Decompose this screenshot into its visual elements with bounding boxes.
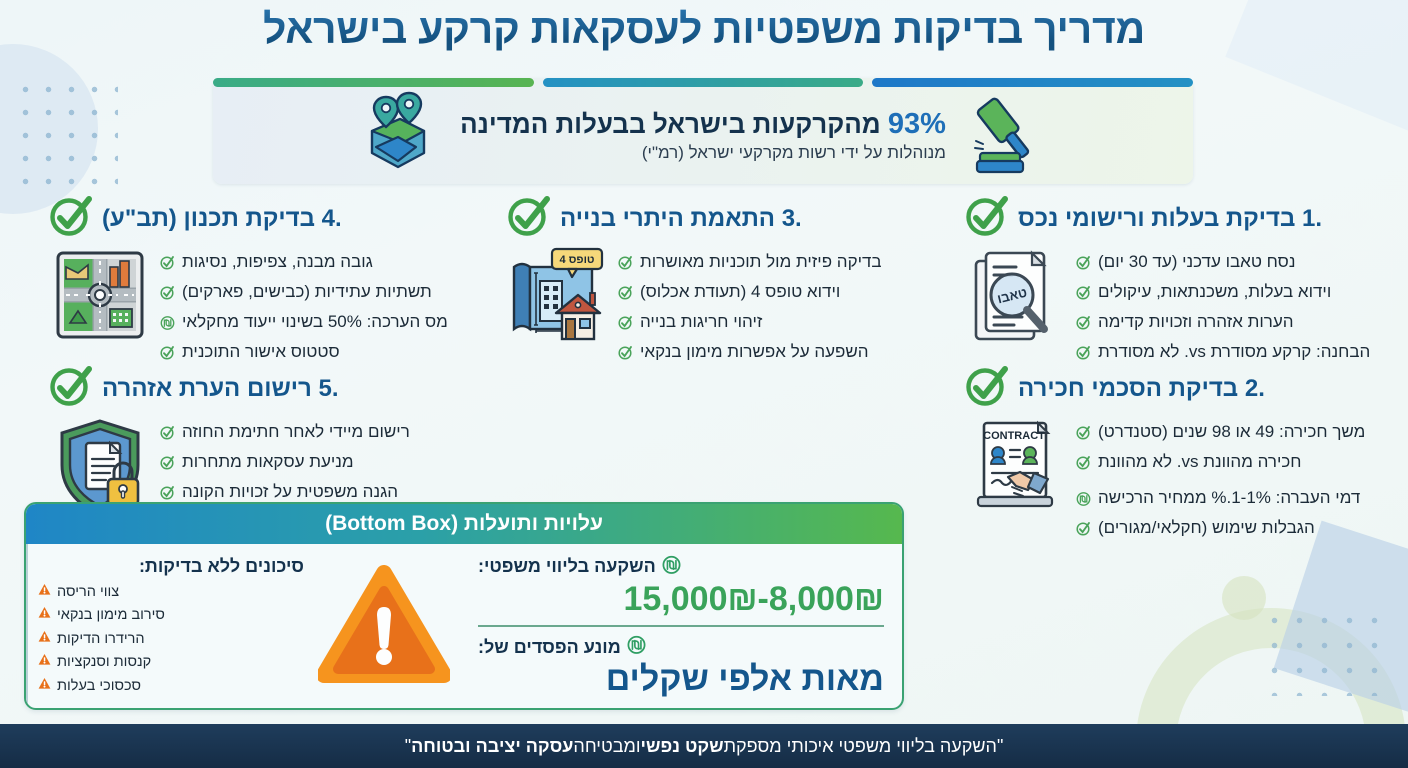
list-item-label: סטטוס אישור התוכנית <box>182 339 340 366</box>
list-item-label: וידוא בעלות, משכנתאות, עיקולים <box>1098 279 1331 306</box>
footer-bold-1: שקט נפשי <box>641 736 724 757</box>
bottom-box-title: עלויות ותועלות (Bottom Box) <box>26 504 902 544</box>
risk-item: קנסות וסנקציות <box>38 651 304 674</box>
list-item: מס הערכה: 50% בשינוי ייעוד מחקלאי <box>160 309 478 339</box>
cost-label-legal-text: השקעה בליווי משפטי: <box>478 556 656 577</box>
check-circle-icon <box>964 364 1010 413</box>
list-item-label: בדיקה פיזית מול תוכניות מאושרות <box>640 249 882 276</box>
check-circle-icon <box>1076 422 1091 449</box>
page-title: מדריך בדיקות משפטיות לעסקאות קרקע בישראל <box>0 2 1408 57</box>
stat-headline-rest: מהקרקעות בישראל בבעלות המדינה <box>460 109 881 139</box>
list-item: תשתיות עתידיות (כבישים, פארקים) <box>160 279 478 309</box>
check-circle-icon <box>964 194 1010 243</box>
check-circle-icon <box>160 422 175 449</box>
list-item: וידוא טופס 4 (תעודת אכלוס) <box>618 279 936 309</box>
decor-dot-grid-left <box>14 78 118 188</box>
check-circle-icon <box>48 364 94 413</box>
decor-square-bottom-right <box>1274 521 1408 715</box>
section-caveat: .5 רישום הערת אזהרה <box>48 364 478 521</box>
list-item-label: חכירה מהוונת vs. לא מהוונת <box>1098 449 1301 476</box>
cost-divider <box>478 625 884 627</box>
list-item: חכירה מהוונת vs. לא מהוונת <box>1076 449 1394 479</box>
section-permits: .3 התאמת היתרי בנייה <box>506 194 936 368</box>
risks-pane: סיכונים ללא בדיקות: צווי הריסה סירוב מימ… <box>26 544 464 710</box>
risk-item-label: קנסות וסנקציות <box>57 651 151 674</box>
stat-percent: 93% <box>888 108 946 140</box>
gavel-icon <box>962 91 1054 180</box>
check-circle-icon <box>160 452 175 479</box>
warning-triangle-small-icon <box>38 604 51 627</box>
stat-bar-teal <box>543 78 864 87</box>
check-circle-icon <box>160 252 175 279</box>
section-planning: .4 בדיקת תכנון (תב"ע) <box>48 194 478 368</box>
check-circle-icon <box>618 312 633 339</box>
check-circle-icon <box>1076 312 1091 339</box>
stat-bar-blue <box>872 78 1193 87</box>
map-location-pins-icon <box>352 91 444 180</box>
cost-label-savings: מונע הפסדים של: <box>478 635 884 659</box>
stat-banner: 93% מהקרקעות בישראל בבעלות המדינה מנוהלו… <box>213 78 1193 184</box>
list-item-label: וידוא טופס 4 (תעודת אכלוס) <box>640 279 840 306</box>
cost-value-savings: מאות אלפי שקלים <box>478 659 884 699</box>
stat-banner-color-bars <box>213 78 1193 87</box>
footer-quote-open: "השקעה בליווי משפטי איכותי מספקת <box>724 736 1004 757</box>
section-item-list: גובה מבנה, צפיפות, נסיגות תשתיות עתידיות… <box>160 247 478 368</box>
section-title: .4 בדיקת תכנון (תב"ע) <box>102 205 342 233</box>
footer-middle: ומבטיחה <box>573 736 640 757</box>
stat-subtext: מנוהלות על ידי רשות מקרקעי ישראל (רמ"י) <box>460 143 946 163</box>
city-map-icon <box>48 247 152 347</box>
bottom-box: עלויות ותועלות (Bottom Box) השקעה בליווי… <box>24 502 904 710</box>
list-item-label: השפעה על אפשרות מימון בנקאי <box>640 339 869 366</box>
check-circle-icon <box>1076 252 1091 279</box>
check-circle-icon <box>48 194 94 243</box>
svg-text:CONTRACT: CONTRACT <box>983 430 1045 442</box>
warning-triangle-small-icon <box>38 581 51 604</box>
list-item-label: זיהוי חריגות בנייה <box>640 309 762 336</box>
list-item: וידוא בעלות, משכנתאות, עיקולים <box>1076 279 1394 309</box>
list-item-label: משך חכירה: 49 או 98 שנים (סטנדרט) <box>1098 419 1365 446</box>
section-title: .1 בדיקת בעלות ורישומי נכס <box>1018 205 1322 233</box>
list-item-label: הגבלות שימוש (חקלאי/מגורים) <box>1098 515 1315 542</box>
footer-banner: "השקעה בליווי משפטי איכותי מספקת שקט נפש… <box>0 724 1408 768</box>
list-item-label: מס הערכה: 50% בשינוי ייעוד מחקלאי <box>182 309 448 336</box>
section-item-list: נסח טאבו עדכני (עד 30 יום) וידוא בעלות, … <box>1076 247 1394 368</box>
list-item: מניעת עסקאות מתחרות <box>160 449 478 479</box>
list-item-label: הערות אזהרה וזכויות קדימה <box>1098 309 1294 336</box>
section-item-list: משך חכירה: 49 או 98 שנים (סטנדרט) חכירה … <box>1076 417 1394 544</box>
warning-triangle-small-icon <box>38 651 51 674</box>
risks-list: צווי הריסה סירוב מימון בנקאי הרידרו הדיק… <box>38 581 304 698</box>
list-item: זיהוי חריגות בנייה <box>618 309 936 339</box>
check-circle-icon <box>618 252 633 279</box>
list-item-label: הבחנה: קרקע מסודרת vs. לא מסודרת <box>1098 339 1370 366</box>
check-circle-icon <box>618 342 633 369</box>
warning-triangle-icon <box>318 565 450 690</box>
check-circle-icon <box>506 194 552 243</box>
document-magnifier-tabu-icon: טאבו <box>964 247 1068 355</box>
shekel-circle-icon <box>627 635 646 659</box>
section-item-list: בדיקה פיזית מול תוכניות מאושרות וידוא טו… <box>618 247 936 368</box>
list-item: רישום מיידי לאחר חתימת החוזה <box>160 419 478 449</box>
section-title: .5 רישום הערת אזהרה <box>102 375 339 403</box>
list-item: הערות אזהרה וזכויות קדימה <box>1076 309 1394 339</box>
section-title: .3 התאמת היתרי בנייה <box>560 205 802 233</box>
footer-quote-close: " <box>405 736 411 757</box>
section-ownership: .1 בדיקת בעלות ורישומי נכס טאבו <box>964 194 1394 368</box>
check-circle-icon <box>618 282 633 309</box>
shekel-circle-icon <box>160 312 175 339</box>
cost-value-legal: 8,000₪-15,000₪ <box>478 579 884 619</box>
list-item: דמי העברה: 1%-1.% ממחיר הרכישה <box>1076 485 1394 515</box>
risk-item: הרידרו הדיקות <box>38 628 304 651</box>
risk-item: סירוב מימון בנקאי <box>38 604 304 627</box>
check-circle-icon <box>160 282 175 309</box>
risks-title: סיכונים ללא בדיקות: <box>38 556 304 577</box>
shekel-circle-icon <box>662 555 681 579</box>
stat-headline: 93% מהקרקעות בישראל בבעלות המדינה <box>460 108 946 141</box>
section-title: .2 בדיקת הסכמי חכירה <box>1018 375 1265 403</box>
check-circle-icon <box>1076 282 1091 309</box>
list-item-label: דמי העברה: 1%-1.% ממחיר הרכישה <box>1098 485 1360 512</box>
list-item-label: גובה מבנה, צפיפות, נסיגות <box>182 249 373 276</box>
cost-label-legal: השקעה בליווי משפטי: <box>478 555 884 579</box>
stat-bar-green <box>213 78 534 87</box>
warning-triangle-small-icon <box>38 675 51 698</box>
list-item-label: נסח טאבו עדכני (עד 30 יום) <box>1098 249 1295 276</box>
risk-item: צווי הריסה <box>38 581 304 604</box>
risk-item-label: סכסוכי בעלות <box>57 675 141 698</box>
warning-triangle-small-icon <box>38 628 51 651</box>
section-lease: .2 בדיקת הסכמי חכירה CONTRACT <box>964 364 1394 544</box>
list-item-label: מניעת עסקאות מתחרות <box>182 449 354 476</box>
list-item: משך חכירה: 49 או 98 שנים (סטנדרט) <box>1076 419 1394 449</box>
list-item-label: רישום מיידי לאחר חתימת החוזה <box>182 419 410 446</box>
decor-circle-left <box>0 44 98 214</box>
risk-item-label: צווי הריסה <box>57 581 119 604</box>
list-item: בדיקה פיזית מול תוכניות מאושרות <box>618 249 936 279</box>
footer-bold-2: עסקה יציבה ובטוחה <box>411 736 573 757</box>
decor-dot-grid-bottom-right <box>1262 608 1390 696</box>
contract-handshake-icon: CONTRACT <box>964 417 1068 521</box>
shekel-circle-icon <box>1076 488 1091 515</box>
check-circle-icon <box>1076 452 1091 479</box>
blueprint-house-form4-icon: טופס 4 <box>506 247 610 355</box>
risk-item-label: סירוב מימון בנקאי <box>57 604 165 627</box>
list-item-label: תשתיות עתידיות (כבישים, פארקים) <box>182 279 432 306</box>
section-item-list: רישום מיידי לאחר חתימת החוזה מניעת עסקאו… <box>160 417 478 509</box>
svg-text:טופס 4: טופס 4 <box>560 254 595 266</box>
cost-label-savings-text: מונע הפסדים של: <box>478 637 621 658</box>
risk-item-label: הרידרו הדיקות <box>57 628 145 651</box>
decor-bubble-bottom-right <box>1222 576 1266 620</box>
list-item: השפעה על אפשרות מימון בנקאי <box>618 339 936 369</box>
list-item: נסח טאבו עדכני (עד 30 יום) <box>1076 249 1394 279</box>
list-item: גובה מבנה, צפיפות, נסיגות <box>160 249 478 279</box>
costs-pane: השקעה בליווי משפטי: 8,000₪-15,000₪ מונע … <box>464 544 902 710</box>
check-circle-icon <box>1076 518 1091 545</box>
list-item: הגבלות שימוש (חקלאי/מגורים) <box>1076 515 1394 545</box>
risk-item: סכסוכי בעלות <box>38 675 304 698</box>
